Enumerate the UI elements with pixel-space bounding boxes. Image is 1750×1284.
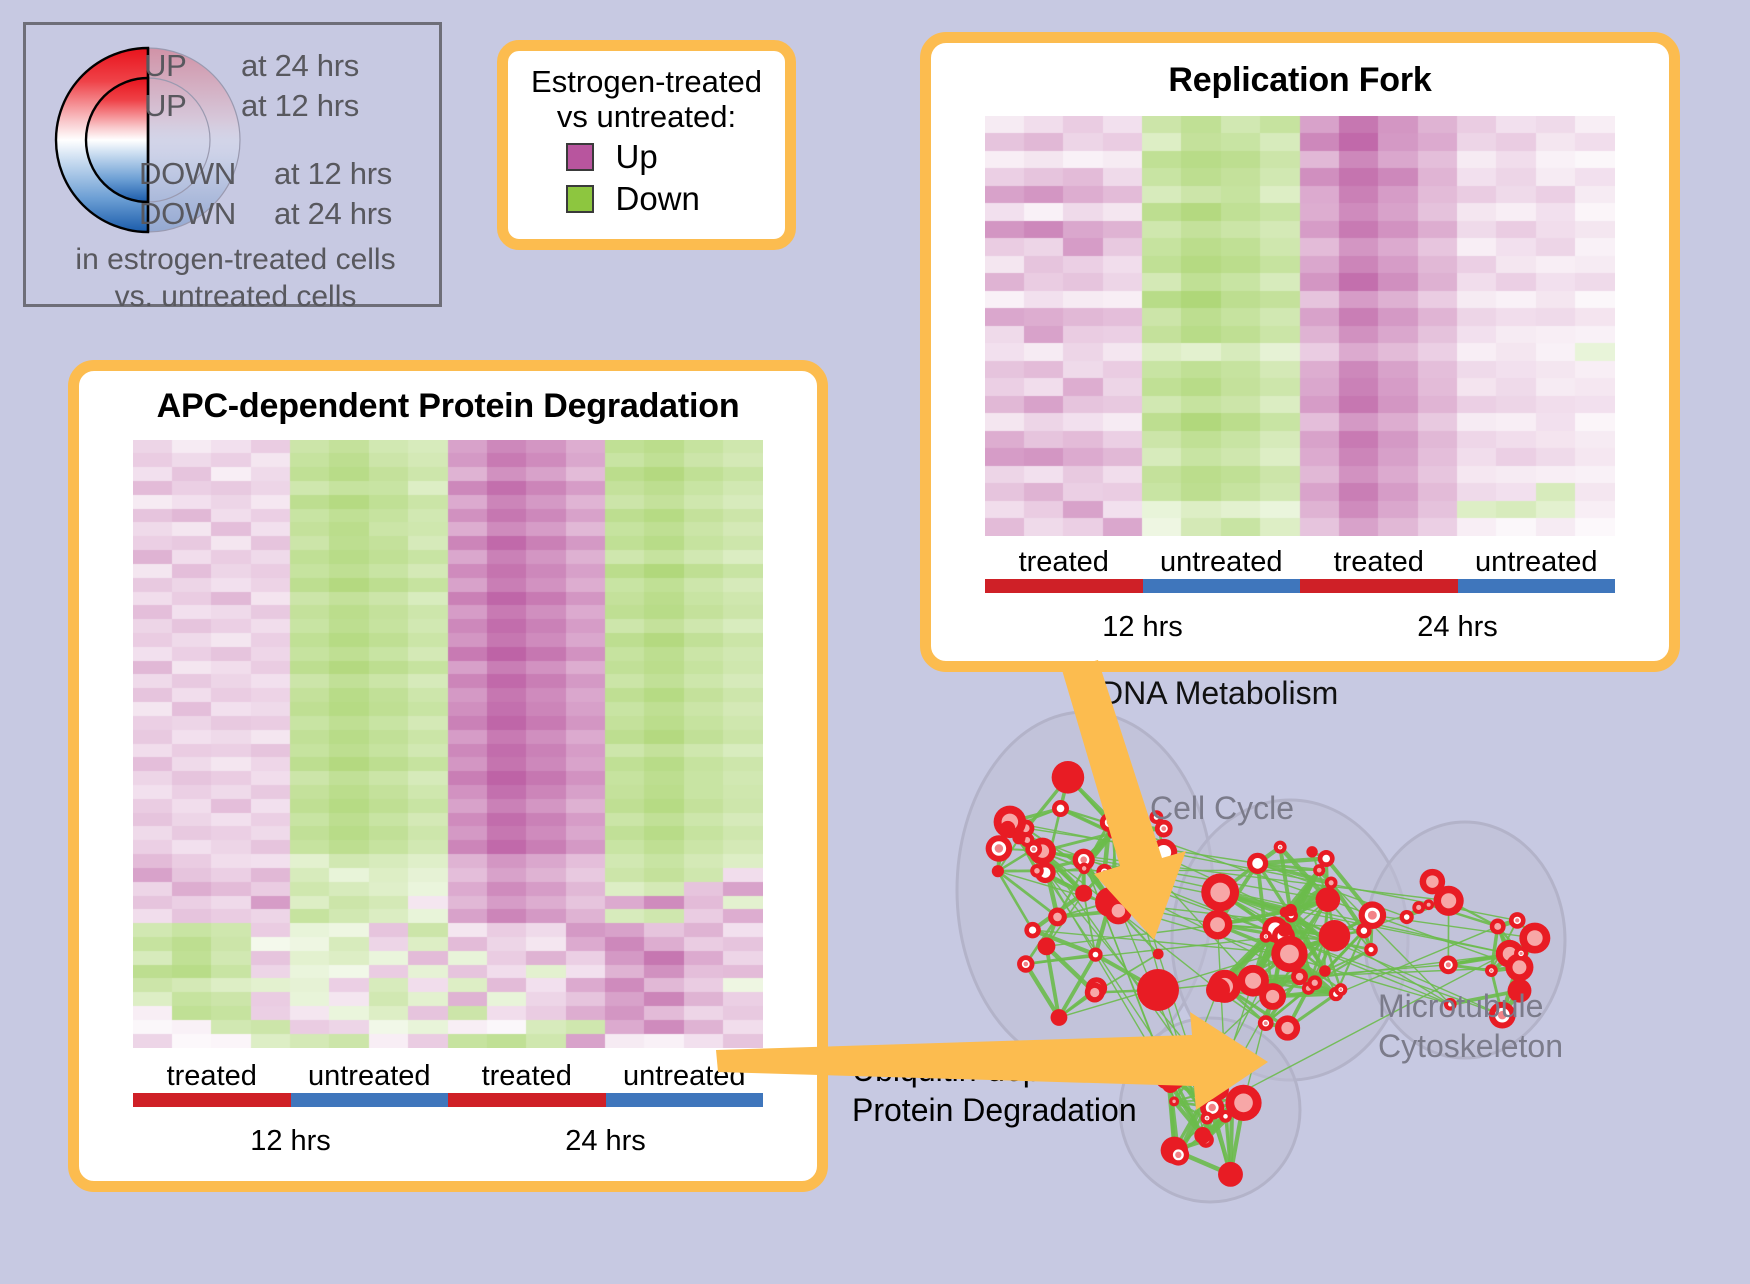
heatmap-replication-fork (985, 116, 1615, 536)
network-node[interactable] (1334, 983, 1347, 996)
legend-title-line1: Estrogen-treated (508, 65, 785, 100)
network-node[interactable] (1000, 821, 1015, 836)
time-label-apc-24: 24 hrs (448, 1125, 763, 1158)
network-node[interactable] (1400, 910, 1414, 924)
pathway-network-diagram: DNA Metabolism Cell Cycle Microtubule Cy… (900, 690, 1750, 1279)
network-node[interactable] (1319, 965, 1331, 977)
network-node[interactable] (1271, 936, 1307, 972)
panel-replication-fork: Replication Fork treated untreated treat… (920, 32, 1680, 672)
cluster-label-cell-cycle: Cell Cycle (1150, 790, 1294, 827)
network-node[interactable] (1206, 978, 1230, 1002)
network-node[interactable] (1109, 818, 1124, 833)
network-node[interactable] (1168, 1144, 1190, 1166)
sample-label-rf-2: treated (1300, 546, 1458, 579)
colorbar-seg-apc-untreated-12 (291, 1093, 449, 1107)
network-node[interactable] (1078, 863, 1090, 875)
legend-swatch-down (566, 185, 594, 213)
time-colorbar-replication-fork (985, 598, 1615, 607)
network-node[interactable] (992, 865, 1004, 877)
panel-apc-degradation: APC-dependent Protein Degradation treate… (68, 360, 828, 1192)
treatment-colorbar-replication-fork (985, 579, 1615, 593)
network-node[interactable] (1274, 841, 1287, 854)
key-label-down-24-time: at 24 hrs (274, 196, 392, 232)
network-node[interactable] (1359, 901, 1387, 929)
legend-label-up: Up (616, 138, 728, 176)
network-node[interactable] (1509, 912, 1526, 929)
network-node[interactable] (1161, 1065, 1186, 1090)
network-node[interactable] (1201, 874, 1239, 912)
network-node[interactable] (1024, 922, 1041, 939)
network-node[interactable] (1052, 761, 1085, 794)
figure-canvas: UP at 24 hrs UP at 12 hrs DOWN at 12 hrs… (0, 0, 1750, 1279)
sample-label-apc-3: untreated (606, 1060, 764, 1093)
colorbar-seg-apc-treated-12 (133, 1093, 291, 1107)
cluster-label-ubiquitin-dependent: Ubiquitin-dependent (852, 1052, 1138, 1089)
network-node[interactable] (1203, 910, 1233, 940)
network-node[interactable] (1218, 1162, 1243, 1187)
network-node[interactable] (1275, 1015, 1300, 1040)
time-label-rf-24: 24 hrs (1300, 611, 1615, 644)
color-key-caption-line1: in estrogen-treated cells (26, 242, 445, 279)
sample-label-rf-3: untreated (1458, 546, 1616, 579)
network-node[interactable] (1096, 864, 1112, 880)
network-node[interactable] (1237, 965, 1269, 997)
legend-row-down: Down (508, 180, 785, 218)
network-node[interactable] (1307, 975, 1322, 990)
network-node[interactable] (1278, 922, 1293, 937)
time-label-apc-12: 12 hrs (133, 1125, 448, 1158)
network-node[interactable] (1291, 968, 1308, 985)
network-node[interactable] (1085, 983, 1105, 1003)
colorbar-seg-apc-treated-24 (448, 1093, 606, 1107)
time-labels-apc: 12 hrs 24 hrs (133, 1125, 763, 1158)
sample-labels-replication-fork: treated untreated treated untreated (985, 546, 1615, 579)
network-node[interactable] (1137, 969, 1179, 1011)
network-svg (900, 690, 1750, 1279)
network-node[interactable] (1423, 899, 1434, 910)
colorbar-seg-treated-24 (1300, 579, 1458, 593)
cluster-label-protein-degradation: Protein Degradation (852, 1092, 1137, 1129)
network-node[interactable] (1325, 876, 1338, 889)
legend-title: Estrogen-treated vs untreated: (508, 51, 785, 134)
key-label-down-24-term: DOWN (139, 196, 236, 232)
network-node[interactable] (1153, 949, 1164, 960)
sample-label-apc-0: treated (133, 1060, 291, 1093)
time-label-rf-12: 12 hrs (985, 611, 1300, 644)
time-colorbar-apc (133, 1112, 763, 1121)
network-node[interactable] (1514, 946, 1528, 960)
heatmap-apc-degradation (133, 440, 763, 1048)
sample-label-rf-0: treated (985, 546, 1143, 579)
network-node[interactable] (1316, 887, 1341, 912)
network-node[interactable] (1051, 1009, 1068, 1026)
colorbar-seg-untreated-24 (1458, 579, 1616, 593)
legend-row-up: Up (508, 138, 785, 176)
color-key-caption-line2: vs. untreated cells (26, 279, 445, 316)
key-label-up-24-term: UP (144, 48, 186, 84)
cluster-label-cytoskeleton: Cytoskeleton (1378, 1028, 1563, 1065)
network-node[interactable] (986, 835, 1013, 862)
time-labels-replication-fork: 12 hrs 24 hrs (985, 611, 1615, 644)
network-node[interactable] (1202, 1080, 1217, 1095)
network-node[interactable] (1364, 943, 1378, 957)
key-label-up-12-term: UP (144, 88, 186, 124)
key-label-down-12-term: DOWN (139, 156, 236, 192)
panel-title-replication-fork: Replication Fork (931, 61, 1669, 100)
color-key-caption: in estrogen-treated cells vs. untreated … (26, 242, 445, 315)
legend-label-down: Down (616, 180, 728, 218)
network-node[interactable] (1030, 864, 1044, 878)
network-node[interactable] (1434, 886, 1464, 916)
network-node[interactable] (1412, 901, 1425, 914)
network-node[interactable] (1306, 846, 1317, 857)
key-label-up-24-time: at 24 hrs (241, 48, 359, 84)
network-node[interactable] (1048, 908, 1067, 927)
network-node[interactable] (1075, 885, 1092, 902)
network-node[interactable] (1247, 853, 1268, 874)
network-node[interactable] (1285, 904, 1297, 916)
sample-label-apc-1: untreated (291, 1060, 449, 1093)
network-node[interactable] (1260, 930, 1272, 942)
network-node[interactable] (1313, 864, 1325, 876)
network-node[interactable] (1439, 956, 1458, 975)
sample-label-rf-1: untreated (1143, 546, 1301, 579)
key-label-up-12-time: at 12 hrs (241, 88, 359, 124)
network-node[interactable] (1258, 1015, 1274, 1031)
network-node[interactable] (1485, 964, 1498, 977)
sample-label-apc-2: treated (448, 1060, 606, 1093)
colorbar-seg-untreated-12 (1143, 579, 1301, 593)
colorbar-seg-apc-untreated-24 (606, 1093, 764, 1107)
colorbar-seg-treated-12 (985, 579, 1143, 593)
network-node[interactable] (1012, 831, 1025, 844)
color-key-box: UP at 24 hrs UP at 12 hrs DOWN at 12 hrs… (23, 22, 442, 307)
network-node[interactable] (1319, 920, 1350, 951)
cluster-label-dna-metabolism: DNA Metabolism (1100, 675, 1338, 712)
network-node[interactable] (1490, 919, 1506, 935)
network-node[interactable] (1201, 1112, 1214, 1125)
legend-title-line2: vs untreated: (508, 100, 785, 135)
up-down-legend-box: Estrogen-treated vs untreated: Up Down (497, 40, 796, 250)
network-node[interactable] (1185, 1065, 1201, 1081)
sample-labels-apc: treated untreated treated untreated (133, 1060, 763, 1093)
panel-title-apc: APC-dependent Protein Degradation (79, 387, 817, 426)
network-node[interactable] (1105, 897, 1132, 924)
network-node[interactable] (1017, 955, 1034, 972)
network-node[interactable] (1150, 839, 1177, 866)
cluster-label-microtubule: Microtubule (1378, 988, 1543, 1025)
network-node[interactable] (1169, 1096, 1179, 1106)
network-node[interactable] (1194, 1127, 1211, 1144)
key-label-down-12-time: at 12 hrs (274, 156, 392, 192)
treatment-colorbar-apc (133, 1093, 763, 1107)
legend-swatch-up (566, 143, 594, 171)
network-node[interactable] (1037, 937, 1055, 955)
network-node[interactable] (1088, 947, 1102, 961)
network-node[interactable] (1052, 800, 1069, 817)
network-node[interactable] (1225, 1085, 1261, 1121)
